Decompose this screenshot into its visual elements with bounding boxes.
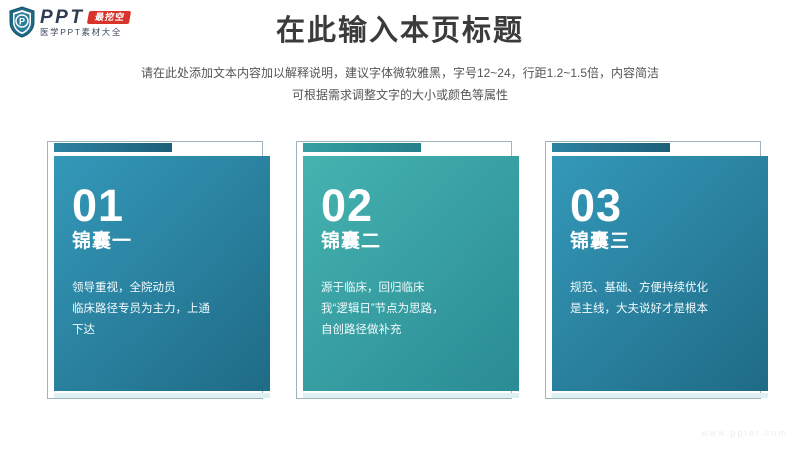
card-01-text: 领导重视，全院动员 临床路径专员为主力，上通 下达 (72, 278, 254, 342)
card-01-text-line-3: 下达 (72, 320, 254, 341)
card-01-text-line-2: 临床路径专员为主力，上通 (72, 299, 254, 320)
card-01-number: 01 (72, 183, 254, 228)
card-03-body: 03 锦囊三 规范、基础、方便持续优化 是主线，大夫说好才是根本 (552, 156, 768, 391)
card-02-text: 源于临床，回归临床 我“逻辑日”节点为思路， 自创路径做补充 (321, 278, 503, 342)
card-03-heading: 锦囊三 (570, 230, 752, 254)
card-02-text-line-3: 自创路径做补充 (321, 320, 503, 341)
card-02-underline (303, 393, 519, 398)
footer-watermark: www.ppter.com (701, 428, 788, 438)
card-02-text-line-2: 我“逻辑日”节点为思路， (321, 299, 503, 320)
card-03-text-line-2: 是主线，大夫说好才是根本 (570, 299, 752, 320)
card-02-topbar (303, 143, 421, 152)
card-02-number: 02 (321, 183, 503, 228)
card-01-heading: 锦囊一 (72, 230, 254, 254)
card-01-body: 01 锦囊一 领导重视，全院动员 临床路径专员为主力，上通 下达 (54, 156, 270, 391)
card-01-text-line-1: 领导重视，全院动员 (72, 278, 254, 299)
card-01-underline (54, 393, 270, 398)
card-02[interactable]: 02 锦囊二 源于临床，回归临床 我“逻辑日”节点为思路， 自创路径做补充 (296, 141, 512, 399)
card-03-topbar (552, 143, 670, 152)
card-03-underline (552, 393, 768, 398)
card-row: 01 锦囊一 领导重视，全院动员 临床路径专员为主力，上通 下达 02 锦囊二 … (0, 141, 800, 401)
page-subtitle-line-1: 请在此处添加文本内容加以解释说明，建议字体微软雅黑，字号12~24，行距1.2~… (0, 62, 800, 84)
card-01-topbar (54, 143, 172, 152)
card-03-text: 规范、基础、方便持续优化 是主线，大夫说好才是根本 (570, 278, 752, 321)
card-01[interactable]: 01 锦囊一 领导重视，全院动员 临床路径专员为主力，上通 下达 (47, 141, 263, 399)
page-subtitle: 请在此处添加文本内容加以解释说明，建议字体微软雅黑，字号12~24，行距1.2~… (0, 62, 800, 106)
card-02-body: 02 锦囊二 源于临床，回归临床 我“逻辑日”节点为思路， 自创路径做补充 (303, 156, 519, 391)
page-subtitle-line-2: 可根据需求调整文字的大小或颜色等属性 (0, 84, 800, 106)
card-03-number: 03 (570, 183, 752, 228)
card-02-heading: 锦囊二 (321, 230, 503, 254)
card-02-text-line-1: 源于临床，回归临床 (321, 278, 503, 299)
card-03[interactable]: 03 锦囊三 规范、基础、方便持续优化 是主线，大夫说好才是根本 (545, 141, 761, 399)
card-03-text-line-1: 规范、基础、方便持续优化 (570, 278, 752, 299)
page-title: 在此输入本页标题 (0, 14, 800, 49)
